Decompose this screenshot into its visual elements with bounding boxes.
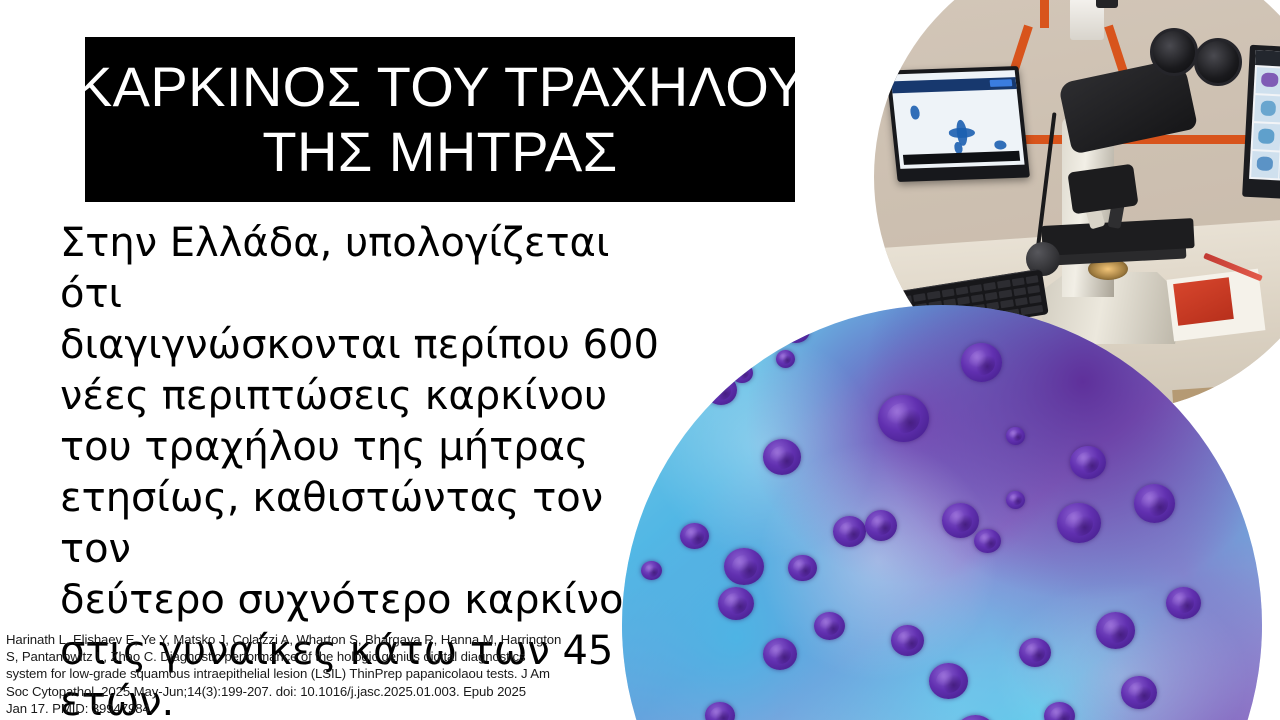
viewer-action-button [990,79,1013,87]
citation-line-5: Jan 17. PMID: 39947984. [6,700,648,717]
cell-nucleus [942,503,979,538]
body-line-4: του τραχήλου της μήτρας [60,422,680,473]
right-monitor [1242,45,1280,203]
slide-title-banner: ΚΑΡΚΙΝΟΣ ΤΟΥ ΤΡΑΧΗΛΟΥ ΤΗΣ ΜΗΤΡΑΣ [85,37,795,202]
presentation-slide: ΚΑΡΚΙΝΟΣ ΤΟΥ ΤΡΑΧΗΛΟΥ ΤΗΣ ΜΗΤΡΑΣ Στην Ελ… [0,0,1280,720]
cell-nucleus [878,395,929,442]
cell-nucleus [891,625,924,656]
thumbnail [1254,95,1280,123]
cervical-cytology-micrograph [622,305,1262,720]
thumbnail [1256,67,1280,95]
citation-line-1: Harinath L, Elishaev E, Ye Y, Matsko J, … [6,631,648,648]
cytology-thumbnail-grid [1251,67,1280,183]
cell-nucleus [961,343,1002,381]
body-line-6: δεύτερο συχνότερο καρκίνο [60,575,680,626]
body-line-5: ετησίως, καθιστώντας τον τον [60,473,680,575]
body-line-2: διαγιγνώσκονται περίπου 600 [60,320,680,371]
cell-nucleus [929,663,967,699]
microscope-eyepiece [1150,28,1198,76]
body-line-1: Στην Ελλάδα, υπολογίζεται ότι [60,218,680,320]
cell-nucleus [814,612,845,640]
cell-cluster [994,140,1007,149]
cell-nucleus [788,555,816,582]
citation-line-4: Soc Cytopathol. 2025 May-Jun;14(3):199-2… [6,683,648,700]
citation-line-3: system for low-grade squamous intraepith… [6,665,648,682]
cell-nucleus [865,510,897,541]
left-monitor-screen [890,70,1024,169]
left-monitor [886,66,1030,182]
cell-nucleus [1070,446,1106,479]
cell-cluster [910,105,920,119]
cell-nucleus [974,529,1001,553]
right-monitor-screen [1249,50,1280,185]
cell-nucleus [1006,491,1025,509]
cell-nucleus [1057,503,1101,543]
cell-nucleus [1019,638,1051,667]
cell-nucleus [763,638,798,670]
cell-nucleus [1006,427,1025,445]
os-taskbar [903,151,1020,165]
reference-citation: Harinath L, Elishaev E, Ye Y, Matsko J, … [6,631,648,717]
cell-nucleus [718,587,754,620]
body-line-3: νέες περιπτώσεις καρκίνου [60,371,680,422]
slide-title-line-2: ΤΗΣ ΜΗΤΡΑΣ [262,120,617,185]
jar-cap [1096,0,1118,8]
slide-title-line-1: ΚΑΡΚΙΝΟΣ ΤΟΥ ΤΡΑΧΗΛΟΥ [75,55,805,120]
cell-nucleus [1134,484,1175,522]
thumbnail [1253,123,1280,151]
cell-nucleus [705,375,737,404]
microscope-eyepiece [1194,38,1242,86]
thumbnail [1251,151,1279,179]
citation-line-2: S, Pantanowitz L, Zhao C. Diagnostic per… [6,648,648,665]
cell-nucleus [1166,587,1201,619]
cell-nucleus [776,350,795,368]
cell-nucleus [731,363,753,383]
flask-graphic-neck-left [1040,0,1049,28]
cell-nucleus [705,702,734,720]
